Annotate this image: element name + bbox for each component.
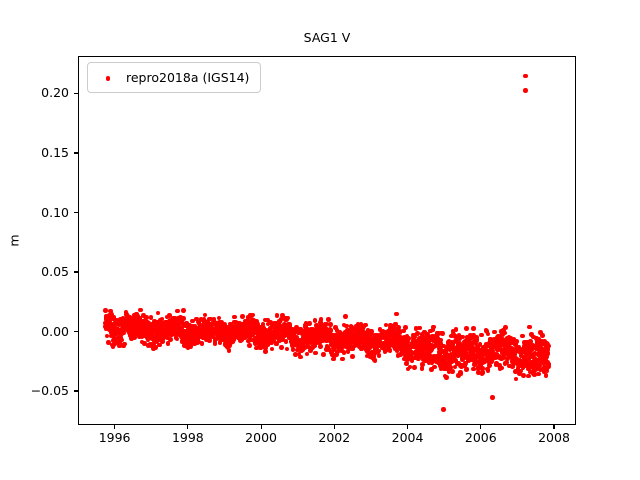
data-point (307, 321, 312, 326)
data-point (350, 354, 355, 359)
data-point (227, 348, 232, 353)
data-point (232, 315, 237, 320)
data-point (207, 338, 212, 343)
y-tick-label: −0.05 (0, 383, 69, 399)
y-tick-label: 0.05 (0, 264, 69, 280)
data-point (250, 313, 255, 318)
x-tick-mark (553, 425, 554, 429)
data-point (168, 337, 173, 342)
x-tick-mark (187, 425, 188, 429)
data-point (479, 333, 484, 338)
x-tick-label: 1998 (156, 430, 220, 446)
data-point (298, 355, 303, 360)
data-point (454, 327, 459, 332)
x-tick-label: 1996 (83, 430, 147, 446)
data-point (486, 368, 491, 373)
figure-canvas: SAG1 V −0.050.000.050.100.150.20 m 19961… (0, 0, 640, 480)
y-tick-label: 0.00 (0, 324, 69, 340)
data-point (431, 325, 436, 330)
x-tick-label: 2004 (376, 430, 440, 446)
data-point (474, 337, 479, 342)
x-tick-mark (114, 425, 115, 429)
data-point (486, 332, 491, 337)
data-point (432, 365, 437, 370)
data-point (326, 317, 331, 322)
x-tick-label: 2002 (302, 430, 366, 446)
x-tick-mark (334, 425, 335, 429)
data-point (319, 317, 324, 322)
y-tick-label: 0.10 (0, 205, 69, 221)
data-point (340, 357, 345, 362)
data-point (544, 373, 549, 378)
data-point (420, 362, 425, 367)
data-point (213, 341, 218, 346)
data-point (394, 312, 399, 317)
data-point (270, 347, 275, 352)
legend-marker-icon (95, 68, 121, 87)
data-point (503, 325, 508, 330)
data-point (526, 374, 531, 379)
data-point (175, 309, 180, 314)
data-point (420, 366, 425, 371)
page-title: SAG1 V (78, 31, 576, 45)
data-point (412, 365, 417, 370)
data-point (200, 341, 205, 346)
plot-area[interactable]: repro2018a (IGS14) (78, 56, 576, 425)
data-point (406, 336, 411, 341)
x-tick-mark (407, 425, 408, 429)
data-point (440, 331, 445, 336)
data-point (247, 343, 252, 348)
data-point (181, 308, 186, 313)
y-tick-label: 0.15 (0, 145, 69, 161)
data-point (471, 326, 476, 331)
data-point (377, 353, 382, 358)
data-point (321, 352, 326, 357)
data-point-outlier (523, 88, 528, 93)
data-point-outlier (523, 74, 528, 79)
data-point (328, 322, 333, 327)
data-point (546, 344, 551, 349)
data-point (527, 325, 532, 330)
data-point (458, 372, 463, 377)
data-point (536, 372, 541, 377)
legend: repro2018a (IGS14) (87, 62, 261, 93)
x-tick-mark (261, 425, 262, 429)
data-point (388, 348, 393, 353)
data-point (181, 316, 186, 321)
y-axis-label: m (7, 221, 22, 261)
x-tick-mark (480, 425, 481, 429)
x-tick-label: 2000 (229, 430, 293, 446)
data-point (263, 349, 268, 354)
data-point (373, 358, 378, 363)
data-point (450, 369, 455, 374)
data-point (540, 333, 545, 338)
data-point (481, 370, 486, 375)
data-point (138, 308, 143, 313)
y-tick-label: 0.20 (0, 85, 69, 101)
data-point (122, 342, 127, 347)
data-point (417, 326, 422, 331)
data-point (499, 366, 504, 371)
data-point (514, 339, 519, 344)
legend-item-repro2018a: repro2018a (IGS14) (95, 68, 249, 87)
data-point (464, 326, 469, 331)
data-point (343, 314, 348, 319)
data-point-outlier (490, 395, 495, 400)
data-point (444, 375, 449, 380)
data-point (156, 311, 161, 316)
scatter-series-repro2018a (79, 57, 575, 424)
legend-item-label: repro2018a (IGS14) (121, 70, 249, 85)
data-point (285, 316, 290, 321)
data-point (284, 339, 289, 344)
data-point-outlier (441, 407, 446, 412)
data-point (520, 334, 525, 339)
x-tick-label: 2008 (522, 430, 586, 446)
data-point (279, 345, 284, 350)
data-point (514, 377, 519, 382)
data-point (403, 325, 408, 330)
data-point (546, 352, 551, 357)
data-point (203, 313, 208, 318)
data-point (313, 351, 318, 356)
data-point (285, 347, 290, 352)
data-point (363, 323, 368, 328)
data-point (318, 344, 323, 349)
x-tick-label: 2006 (449, 430, 513, 446)
